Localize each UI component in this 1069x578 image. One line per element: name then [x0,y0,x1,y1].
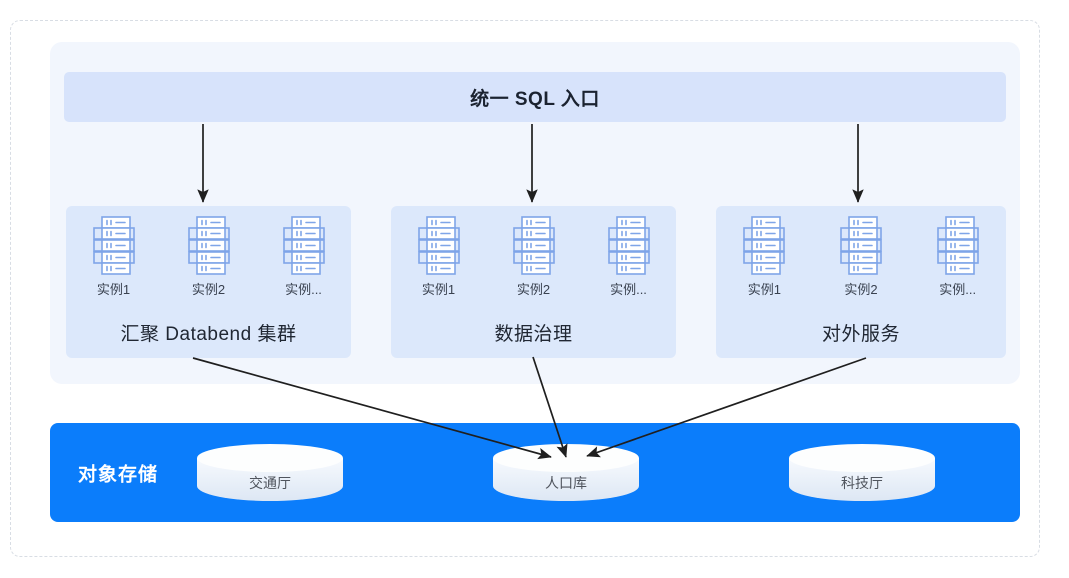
cluster-title: 汇聚 Databend 集群 [66,319,351,346]
storage-bucket-technology[interactable]: 科技厅 [788,443,936,501]
instance-item[interactable]: 实例... [591,214,667,298]
object-storage-label: 对象存储 [78,459,158,486]
instance-label: 实例1 [422,279,455,298]
instance-item[interactable]: 实例1 [726,214,802,298]
instance-list: 实例1 [66,214,351,298]
instance-label: 实例1 [97,279,130,298]
instance-label: 实例2 [844,279,877,298]
instance-label: 实例1 [748,279,781,298]
instance-label: 实例2 [517,279,550,298]
cluster-title: 对外服务 [716,319,1006,346]
server-rack-icon [934,214,982,276]
cluster-group-aggregation[interactable]: 实例1 [66,206,351,358]
instance-label: 实例... [610,279,647,298]
instance-item[interactable]: 实例... [266,214,342,298]
server-rack-icon [740,214,788,276]
cluster-group-data-governance[interactable]: 实例1 [391,206,676,358]
instance-item[interactable]: 实例... [920,214,996,298]
cluster-title: 数据治理 [391,319,676,346]
instance-item[interactable]: 实例2 [823,214,899,298]
server-rack-icon [510,214,558,276]
instance-item[interactable]: 实例2 [496,214,572,298]
instance-list: 实例1 [716,214,1006,298]
unified-sql-entry-bar[interactable]: 统一 SQL 入口 [64,72,1006,122]
instance-item[interactable]: 实例2 [171,214,247,298]
instance-label: 实例... [939,279,976,298]
instance-label: 实例... [285,279,322,298]
instance-label: 实例2 [192,279,225,298]
server-rack-icon [415,214,463,276]
server-rack-icon [280,214,328,276]
unified-sql-entry-label: 统一 SQL 入口 [470,84,600,111]
storage-bucket-label: 人口库 [492,473,640,493]
storage-bucket-traffic[interactable]: 交通厅 [196,443,344,501]
server-rack-icon [605,214,653,276]
instance-item[interactable]: 实例1 [401,214,477,298]
storage-bucket-label: 交通厅 [196,473,344,493]
server-rack-icon [90,214,138,276]
instance-item[interactable]: 实例1 [76,214,152,298]
storage-bucket-population[interactable]: 人口库 [492,443,640,501]
diagram-canvas: 统一 SQL 入口 [0,0,1069,578]
server-rack-icon [837,214,885,276]
cluster-group-external-service[interactable]: 实例1 [716,206,1006,358]
server-rack-icon [185,214,233,276]
instance-list: 实例1 [391,214,676,298]
storage-bucket-label: 科技厅 [788,473,936,493]
